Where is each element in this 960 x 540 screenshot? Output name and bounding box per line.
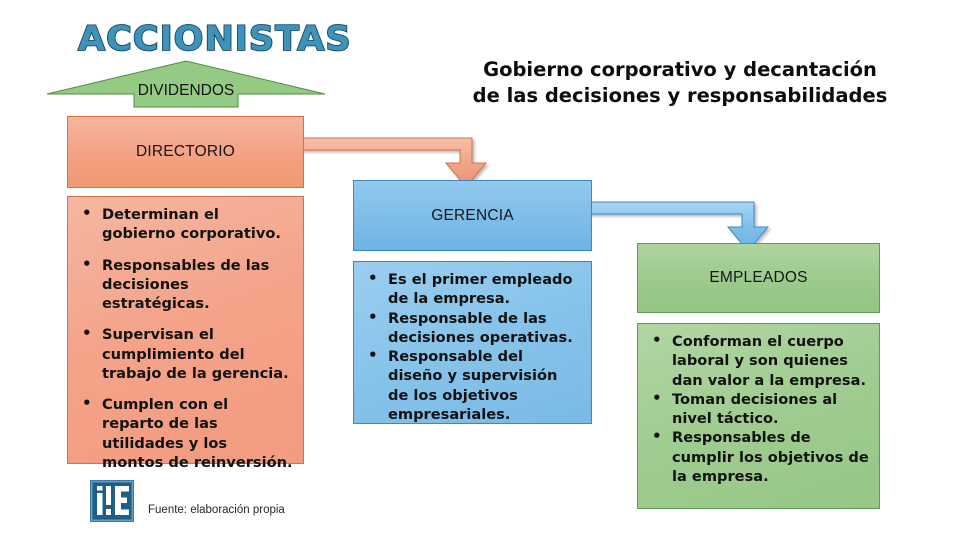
empleados-bullet-list: Conforman el cuerpo laboral y son quiene…	[646, 332, 869, 486]
dividendos-label: DIVIDENDOS	[46, 82, 326, 100]
directorio-bullet-list: Determinan el gobierno corporativo. Resp…	[76, 205, 293, 472]
page-title-line-2: de las decisiones y responsabilidades	[460, 83, 900, 109]
list-item: Responsable de las decisiones operativas…	[362, 309, 581, 348]
list-item: Es el primer empleado de la empresa.	[362, 270, 581, 309]
list-item: Cumplen con el reparto de las utilidades…	[76, 395, 293, 472]
empleados-header-box[interactable]: EMPLEADOS	[637, 243, 880, 313]
gerencia-details-box: Es el primer empleado de la empresa. Res…	[353, 261, 592, 424]
empleados-details-box: Conforman el cuerpo laboral y son quiene…	[637, 323, 880, 509]
list-item: Responsables de las decisiones estratégi…	[76, 256, 293, 314]
list-item: Supervisan el cumplimiento del trabajo d…	[76, 325, 293, 383]
list-item: Toman decisiones al nivel táctico.	[646, 390, 869, 429]
page-title-line-1: Gobierno corporativo y decantación	[460, 57, 900, 83]
gerencia-bullet-list: Es el primer empleado de la empresa. Res…	[362, 270, 581, 424]
list-item: Determinan el gobierno corporativo.	[76, 205, 293, 244]
wordart-title-accionistas: ACCIONISTAS	[78, 22, 352, 56]
list-item: Responsable del diseño y supervisión de …	[362, 347, 581, 424]
slide-canvas: ACCIONISTAS Gobierno corporativo y decan…	[0, 0, 960, 540]
list-item: Conforman el cuerpo laboral y son quiene…	[646, 332, 869, 390]
gerencia-header-label: GERENCIA	[431, 207, 514, 225]
list-item: Responsables de cumplir los objetivos de…	[646, 428, 869, 486]
directorio-header-box[interactable]: DIRECTORIO	[67, 116, 304, 188]
source-note: Fuente: elaboración propia	[148, 504, 285, 516]
institution-logo-icon	[90, 480, 134, 522]
page-title: Gobierno corporativo y decantación de la…	[460, 57, 900, 110]
empleados-header-label: EMPLEADOS	[709, 269, 807, 287]
directorio-details-box: Determinan el gobierno corporativo. Resp…	[67, 196, 304, 464]
gerencia-header-box[interactable]: GERENCIA	[353, 180, 592, 251]
directorio-header-label: DIRECTORIO	[136, 143, 235, 161]
